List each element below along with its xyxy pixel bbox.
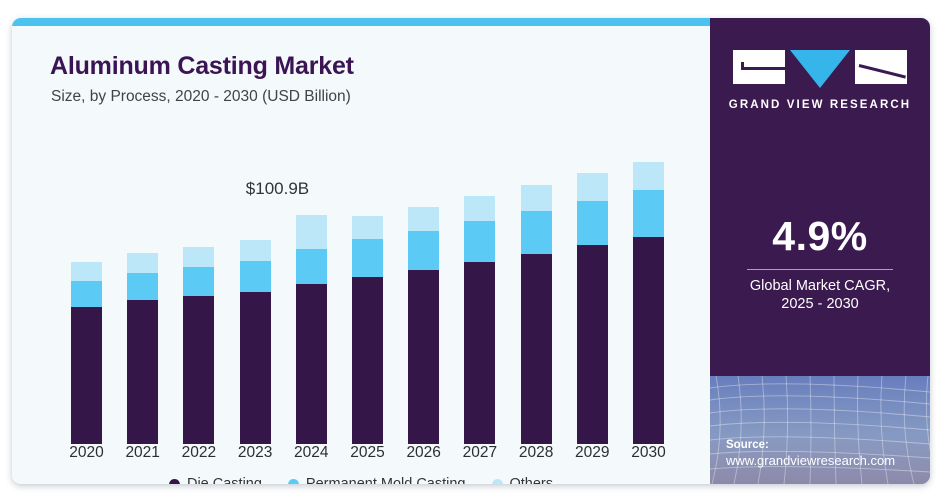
bar-2022 (183, 247, 214, 445)
x-label-2021: 2021 (115, 444, 171, 462)
legend-dot-icon (288, 479, 299, 485)
bar-segment-2022-2 (183, 247, 214, 267)
mesh-graphic: Source: www.grandviewresearch.com (710, 376, 930, 484)
bar-segment-2023-0 (240, 292, 271, 444)
data-label-2024: $100.9B (246, 179, 309, 199)
x-label-2028: 2028 (508, 444, 564, 462)
chart-legend: Die CastingPermanent Mold CastingOthers (12, 476, 710, 484)
logo-g-icon (733, 50, 785, 84)
bar-segment-2021-2 (127, 253, 158, 273)
bar-segment-2029-1 (577, 201, 608, 246)
chart-card: Aluminum Casting Market Size, by Process… (12, 18, 930, 484)
bar-2029 (577, 173, 608, 444)
bar-segment-2028-1 (521, 211, 552, 254)
logo-text: GRAND VIEW RESEARCH (710, 99, 930, 111)
accent-top-bar (12, 18, 710, 26)
source-heading: Source: (726, 438, 895, 453)
cagr-caption-line2: 2025 - 2030 (710, 296, 930, 312)
bar-segment-2028-2 (521, 185, 552, 211)
source-block: Source: www.grandviewresearch.com (726, 438, 895, 470)
x-label-2022: 2022 (171, 444, 227, 462)
legend-item-1[interactable]: Permanent Mold Casting (288, 476, 466, 484)
legend-dot-icon (169, 479, 180, 485)
bar-segment-2024-1 (296, 249, 327, 285)
bar-segment-2022-0 (183, 296, 214, 444)
brand-panel: GRAND VIEW RESEARCH 4.9% Global Market C… (710, 18, 930, 484)
cagr-value: 4.9% (710, 213, 930, 260)
x-label-2023: 2023 (227, 444, 283, 462)
legend-label: Die Casting (187, 476, 262, 484)
bar-2021 (127, 253, 158, 444)
x-label-2020: 2020 (59, 444, 115, 462)
legend-item-2[interactable]: Others (492, 476, 554, 484)
chart-page: Aluminum Casting Market Size, by Process… (0, 0, 943, 502)
cagr-caption-line1: Global Market CAGR, (710, 278, 930, 294)
bar-segment-2027-0 (464, 262, 495, 444)
bar-segment-2023-1 (240, 261, 271, 291)
bar-segment-2024-2 (296, 215, 327, 249)
bar-segment-2024-0 (296, 284, 327, 444)
legend-label: Others (510, 476, 554, 484)
x-label-2029: 2029 (564, 444, 620, 462)
logo-triangle-icon (790, 50, 850, 88)
bar-segment-2030-2 (633, 162, 664, 191)
bar-segment-2030-0 (633, 237, 664, 444)
bar-2027 (464, 196, 495, 444)
chart-region: Aluminum Casting Market Size, by Process… (12, 26, 710, 484)
bar-plot-area: $100.9B (12, 26, 710, 436)
bar-segment-2027-2 (464, 196, 495, 221)
x-label-2026: 2026 (396, 444, 452, 462)
legend-item-0[interactable]: Die Casting (169, 476, 262, 484)
bar-segment-2021-1 (127, 273, 158, 301)
bar-2028 (521, 185, 552, 444)
bar-segment-2028-0 (521, 254, 552, 444)
bar-2030 (633, 162, 664, 444)
bar-segment-2020-1 (71, 281, 102, 307)
bar-segment-2025-1 (352, 239, 383, 277)
bar-segment-2023-2 (240, 240, 271, 261)
bar-segment-2025-0 (352, 277, 383, 444)
bar-segment-2029-0 (577, 245, 608, 444)
x-label-2027: 2027 (452, 444, 508, 462)
logo-marks (710, 50, 930, 90)
x-label-2024: 2024 (283, 444, 339, 462)
x-axis-labels: 2020202120222023202420252026202720282029… (12, 444, 710, 470)
bar-segment-2022-1 (183, 267, 214, 296)
bar-segment-2029-2 (577, 173, 608, 201)
legend-label: Permanent Mold Casting (306, 476, 466, 484)
legend-dot-icon (492, 479, 503, 485)
logo: GRAND VIEW RESEARCH (710, 50, 930, 111)
bar-segment-2020-2 (71, 262, 102, 281)
bar-segment-2026-0 (408, 270, 439, 444)
bar-2023 (240, 240, 271, 444)
bar-segment-2025-2 (352, 216, 383, 239)
bar-segment-2030-1 (633, 190, 664, 236)
bar-segment-2026-2 (408, 207, 439, 231)
logo-r-icon (855, 50, 907, 84)
x-label-2030: 2030 (621, 444, 677, 462)
bar-2024 (296, 215, 327, 444)
x-label-2025: 2025 (340, 444, 396, 462)
bar-segment-2020-0 (71, 307, 102, 444)
bar-2020 (71, 262, 102, 444)
bar-segment-2027-1 (464, 221, 495, 262)
bar-segment-2021-0 (127, 300, 158, 444)
bar-2026 (408, 207, 439, 445)
bar-2025 (352, 216, 383, 444)
cagr-block: 4.9% Global Market CAGR, 2025 - 2030 (710, 213, 930, 312)
source-url: www.grandviewresearch.com (726, 453, 895, 470)
cagr-divider (747, 269, 893, 270)
bar-segment-2026-1 (408, 231, 439, 271)
